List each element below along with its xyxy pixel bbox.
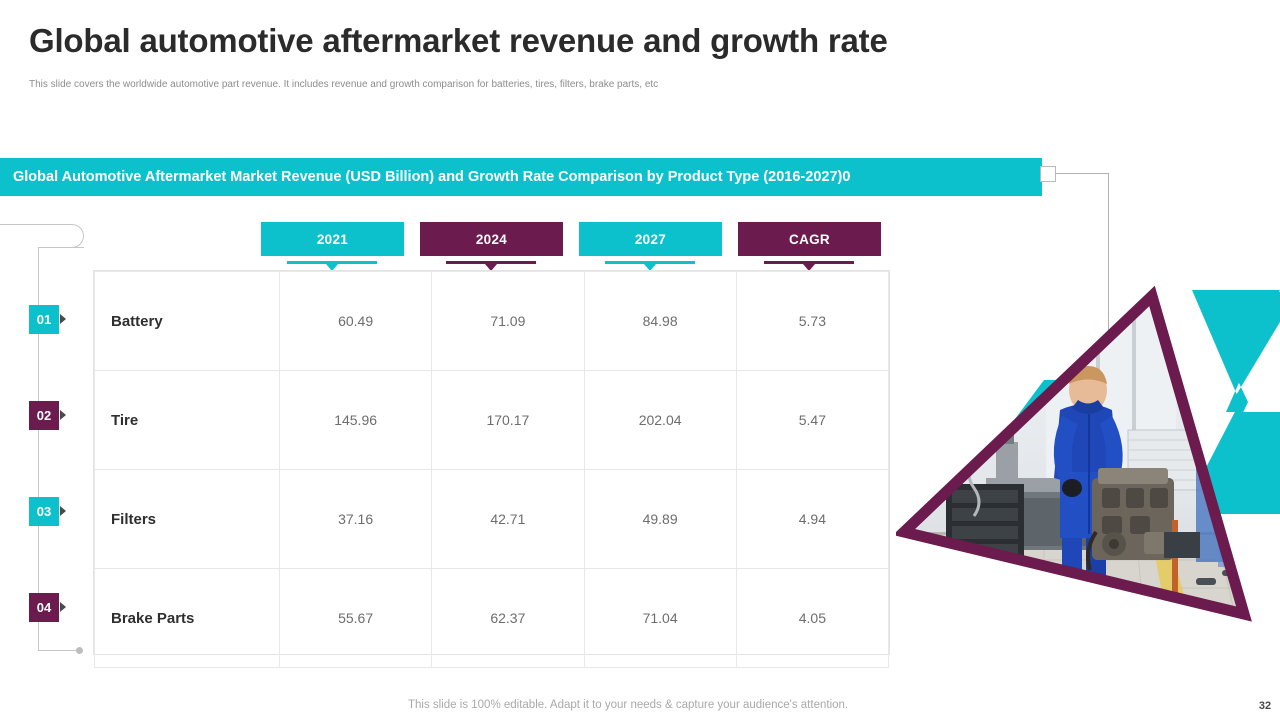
row-badge-01-label: 01 [37, 312, 51, 327]
rail-bottom-segment [38, 650, 80, 651]
rail-mid-segment [38, 247, 84, 248]
row-badge-01-arrow-icon [60, 314, 66, 324]
row-badge-02-label: 02 [37, 408, 51, 423]
column-header-2027[interactable]: 2027 [579, 222, 722, 256]
cell-category: Tire [95, 371, 280, 470]
row-badge-03-arrow-icon [60, 506, 66, 516]
cell-category: Filters [95, 470, 280, 569]
cell-2027: 71.04 [584, 569, 736, 668]
cell-cagr: 4.05 [736, 569, 888, 668]
footer-note: This slide is 100% editable. Adapt it to… [408, 699, 848, 711]
section-banner: Global Automotive Aftermarket Market Rev… [0, 158, 1042, 196]
cell-2021: 145.96 [280, 371, 432, 470]
page-title: Global automotive aftermarket revenue an… [29, 22, 888, 60]
column-header-cagr-label: CAGR [789, 232, 830, 247]
row-badge-04-label: 04 [37, 600, 51, 615]
rail-curve [60, 224, 84, 248]
column-header-2027-label: 2027 [635, 232, 666, 247]
cell-2024: 42.71 [432, 470, 584, 569]
banner-connector-square [1040, 166, 1056, 182]
page-number: 32 [1250, 692, 1280, 720]
table-row: Tire 145.96 170.17 202.04 5.47 [95, 371, 889, 470]
workshop-photo-illustration [896, 282, 1280, 642]
column-header-2021-label: 2021 [317, 232, 348, 247]
rail-end-dot [76, 647, 83, 654]
row-badge-02-arrow-icon [60, 410, 66, 420]
cell-cagr: 5.73 [736, 272, 888, 371]
table-row: Filters 37.16 42.71 49.89 4.94 [95, 470, 889, 569]
cell-2021: 55.67 [280, 569, 432, 668]
row-badge-02[interactable]: 02 [29, 401, 59, 430]
cell-2027: 49.89 [584, 470, 736, 569]
table-row: Brake Parts 55.67 62.37 71.04 4.05 [95, 569, 889, 668]
section-banner-label: Global Automotive Aftermarket Market Rev… [13, 158, 850, 196]
row-badge-03-label: 03 [37, 504, 51, 519]
revenue-table: Battery 60.49 71.09 84.98 5.73 Tire 145.… [93, 270, 890, 655]
row-badge-01[interactable]: 01 [29, 305, 59, 334]
page-subtitle: This slide covers the worldwide automoti… [29, 79, 658, 90]
cell-category: Brake Parts [95, 569, 280, 668]
column-header-cagr[interactable]: CAGR [738, 222, 881, 256]
cell-2024: 170.17 [432, 371, 584, 470]
engine-block [1088, 468, 1174, 570]
table-row: Battery 60.49 71.09 84.98 5.73 [95, 272, 889, 371]
cell-cagr: 5.47 [736, 371, 888, 470]
row-badge-03[interactable]: 03 [29, 497, 59, 526]
column-header-2021[interactable]: 2021 [261, 222, 404, 256]
column-header-2024[interactable]: 2024 [420, 222, 563, 256]
column-header-2024-label: 2024 [476, 232, 507, 247]
cell-cagr: 4.94 [736, 470, 888, 569]
row-badge-04-arrow-icon [60, 602, 66, 612]
banner-connector-line-horizontal [1056, 173, 1109, 174]
cell-2024: 62.37 [432, 569, 584, 668]
cell-2024: 71.09 [432, 272, 584, 371]
cell-2027: 84.98 [584, 272, 736, 371]
cell-2027: 202.04 [584, 371, 736, 470]
cell-category: Battery [95, 272, 280, 371]
cell-2021: 60.49 [280, 272, 432, 371]
row-badge-04[interactable]: 04 [29, 593, 59, 622]
decorative-graphic [896, 282, 1280, 642]
slide-root: Global automotive aftermarket revenue an… [0, 0, 1280, 720]
cell-2021: 37.16 [280, 470, 432, 569]
